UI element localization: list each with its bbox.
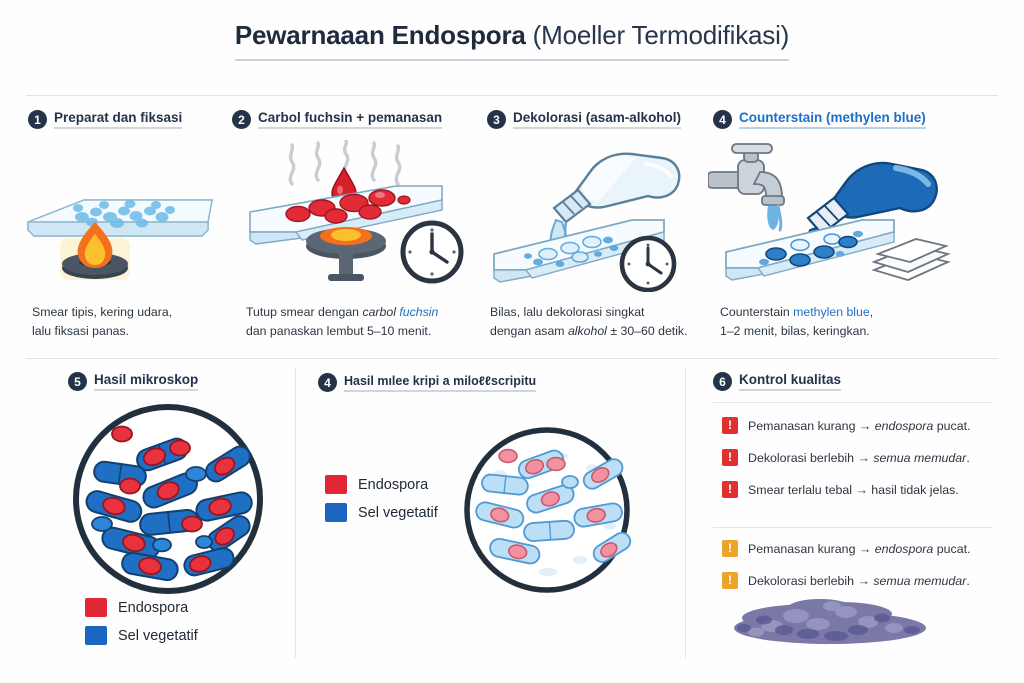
quality-item: ! Dekolorasi berlebih → semua memudar.	[722, 449, 971, 466]
quality-divider-secondary	[713, 527, 993, 528]
step-badge-2: 2	[232, 110, 251, 129]
warning-icon: !	[722, 481, 738, 498]
step-title-4: Counterstain (methylen blue)	[739, 110, 926, 129]
step-caption-4: Counterstain methylen blue, 1–2 menit, b…	[720, 303, 960, 341]
quality-item-text: Smear terlalu tebal → hasil tidak jelas.	[748, 483, 959, 497]
tissue-stack	[874, 239, 948, 280]
step-header-4: 4 Counterstain (methylen blue)	[713, 110, 926, 129]
warning-icon: !	[722, 449, 738, 466]
step-badge-1: 1	[28, 110, 47, 129]
step-badge-4: 4	[713, 110, 732, 129]
step-caption-2-italic: carbol	[362, 305, 399, 319]
step-caption-3-italic: alkohol	[568, 324, 607, 338]
microscope-slide-4	[726, 220, 894, 280]
illustration-carbol-fuchsin-heating	[236, 140, 476, 292]
quality-text-a: Smear terlalu tebal → hasil tidak jelas.	[748, 483, 959, 497]
step-caption-4-line1-a: Counterstain	[720, 305, 793, 319]
step-header-faded: 4 Hasil mılee kripi a miloℓℓscripitu	[318, 373, 536, 392]
step-caption-3-line1: Bilas, lalu dekolorasi singkat	[490, 305, 644, 319]
legend-item-sel-vegetatif: Sel vegetatif	[85, 626, 198, 645]
caution-icon: !	[722, 540, 738, 557]
title-main: Pewarnaaan Endospora	[235, 20, 526, 50]
legend-item-sel-vegetatif-faded: Sel vegetatif	[325, 503, 438, 522]
quality-item: ! Smear terlalu tebal → hasil tidak jela…	[722, 481, 971, 498]
quality-text-b: .	[966, 451, 969, 465]
quality-text-i: semua memudar	[873, 574, 966, 588]
step-caption-3-line2-a: dengan asam	[490, 324, 568, 338]
step-title-2: Carbol fuchsin + pemanasan	[258, 110, 442, 129]
legend-swatch-sel-vegetatif	[85, 626, 107, 645]
divider-middle	[26, 358, 998, 359]
quality-item-text: Dekolorasi berlebih → semua memudar.	[748, 574, 970, 588]
step-caption-3: Bilas, lalu dekolorasi singkat dengan as…	[490, 303, 715, 341]
quality-item-text: Dekolorasi berlebih → semua memudar.	[748, 451, 970, 465]
legend-swatch-endospora	[85, 598, 107, 617]
quality-text-i: endospora	[875, 542, 934, 556]
caution-icon: !	[722, 572, 738, 589]
step-caption-1-line2: lalu fiksasi panas.	[32, 324, 129, 338]
step-caption-4-highlight: methylen blue	[793, 305, 870, 319]
legend-label-sel-vegetatif: Sel vegetatif	[118, 628, 198, 644]
legend-swatch-endospora-faded	[325, 475, 347, 494]
bunsen-burner-2	[306, 227, 386, 281]
step-badge-faded: 4	[318, 373, 337, 392]
quality-item: ! Pemanasan kurang → endospora pucat.	[722, 417, 971, 434]
step-caption-3-line2-b: ± 30–60 detik.	[607, 324, 688, 338]
quality-text-b: .	[966, 574, 969, 588]
step-header-2: 2 Carbol fuchsin + pemanasan	[232, 110, 442, 129]
legend-label-endospora-faded: Endospora	[358, 477, 428, 493]
warning-icon: !	[722, 417, 738, 434]
step-badge-5: 5	[68, 372, 87, 391]
step-caption-1: Smear tipis, kering udara, lalu fiksasi …	[32, 303, 247, 341]
step-header-3: 3 Dekolorasi (asam-alkohol)	[487, 110, 681, 129]
microscope-field-faded	[452, 422, 642, 602]
illustration-decolorization	[486, 142, 701, 292]
illustration-slide-fixation	[22, 160, 237, 290]
quality-text-a: Dekolorasi berlebih →	[748, 574, 873, 588]
quality-text-b: pucat.	[933, 542, 970, 556]
legend-item-endospora: Endospora	[85, 598, 198, 617]
step-caption-2: Tutup smear dengan carbol fuchsin dan pa…	[246, 303, 476, 341]
step-caption-2-highlight: fuchsin	[399, 305, 438, 319]
step-badge-6: 6	[713, 372, 732, 391]
clock-icon-3	[622, 238, 674, 290]
quality-item-text: Pemanasan kurang → endospora pucat.	[748, 419, 971, 433]
reagent-bottle-clear	[554, 154, 679, 222]
microscope-slide-1	[28, 200, 212, 236]
step-header-6: 6 Kontrol kualitas	[713, 372, 841, 391]
microscope-field-stained	[58, 402, 288, 597]
purple-granular-blob	[700, 592, 960, 652]
legend-swatch-sel-vegetatif-faded	[325, 503, 347, 522]
title-subtitle: (Moeller Termodifikasi)	[533, 20, 789, 50]
step-caption-2-line2: dan panaskan lembut 5–10 menit.	[246, 324, 431, 338]
step-header-5: 5 Hasil mikroskop	[68, 372, 198, 391]
step-header-1: 1 Preparat dan fiksasi	[28, 110, 182, 129]
clock-icon-2	[403, 223, 461, 281]
divider-bottom-left	[295, 368, 296, 658]
step-caption-2-line1-a: Tutup smear dengan	[246, 305, 362, 319]
illustration-counterstain	[708, 142, 958, 294]
quality-text-i: semua memudar	[873, 451, 966, 465]
legend-microscope: Endospora Sel vegetatif	[85, 598, 198, 654]
legend-label-sel-vegetatif-faded: Sel vegetatif	[358, 505, 438, 521]
legend-item-endospora-faded: Endospora	[325, 475, 438, 494]
quality-text-a: Dekolorasi berlebih →	[748, 451, 873, 465]
divider-bottom-right	[685, 368, 686, 658]
quality-item: ! Dekolorasi berlebih → semua memudar.	[722, 572, 971, 589]
legend-faded: Endospora Sel vegetatif	[325, 475, 438, 531]
quality-text-b: pucat.	[933, 419, 970, 433]
step-caption-4-line1-b: ,	[870, 305, 873, 319]
step-title-1: Preparat dan fiksasi	[54, 110, 182, 129]
step-caption-4-line2: 1–2 menit, bilas, keringkan.	[720, 324, 870, 338]
step-badge-3: 3	[487, 110, 506, 129]
quality-list-primary: ! Pemanasan kurang → endospora pucat. ! …	[722, 417, 971, 513]
page-title: Pewarnaaan Endospora (Moeller Termodifik…	[0, 20, 1024, 61]
divider-top	[26, 95, 998, 96]
quality-text-i: endospora	[875, 419, 934, 433]
step-title-faded: Hasil mılee kripi a miloℓℓscripitu	[344, 374, 536, 392]
step-title-6: Kontrol kualitas	[739, 372, 841, 391]
step-title-3: Dekolorasi (asam-alkohol)	[513, 110, 681, 129]
legend-label-endospora: Endospora	[118, 600, 188, 616]
step-title-5: Hasil mikroskop	[94, 372, 198, 391]
quality-text-a: Pemanasan kurang →	[748, 542, 875, 556]
quality-item-text: Pemanasan kurang → endospora pucat.	[748, 542, 971, 556]
quality-item: ! Pemanasan kurang → endospora pucat.	[722, 540, 971, 557]
faucet-icon	[708, 144, 784, 230]
step-caption-1-line1: Smear tipis, kering udara,	[32, 305, 172, 319]
quality-text-a: Pemanasan kurang →	[748, 419, 875, 433]
infographic-page: Pewarnaaan Endospora (Moeller Termodifik…	[0, 0, 1024, 683]
quality-divider	[713, 402, 993, 403]
